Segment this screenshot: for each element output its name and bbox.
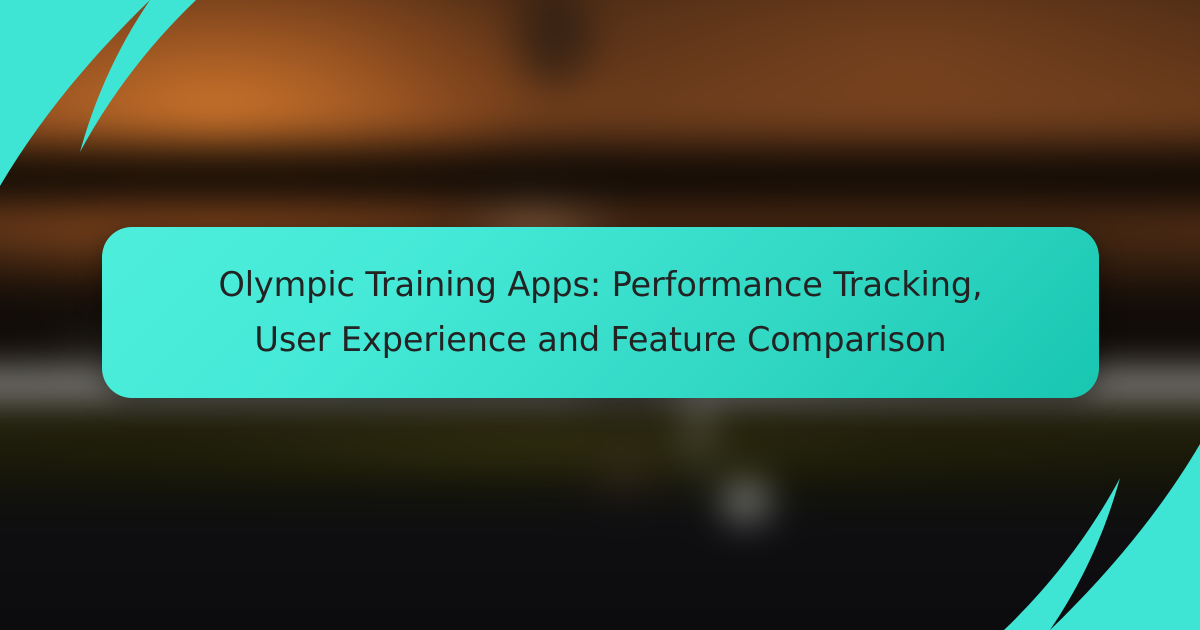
page-title-line-1: Olympic Training Apps: Performance Track… xyxy=(156,258,1045,312)
page-title: Olympic Training Apps: Performance Track… xyxy=(156,258,1045,367)
headline-card: Olympic Training Apps: Performance Track… xyxy=(102,227,1099,398)
social-share-card: Olympic Training Apps: Performance Track… xyxy=(0,0,1200,630)
page-title-line-2: User Experience and Feature Comparison xyxy=(156,313,1045,367)
background-ball xyxy=(720,480,776,526)
background-foreground-band xyxy=(0,500,1200,630)
background-treeline-band xyxy=(0,128,1200,206)
